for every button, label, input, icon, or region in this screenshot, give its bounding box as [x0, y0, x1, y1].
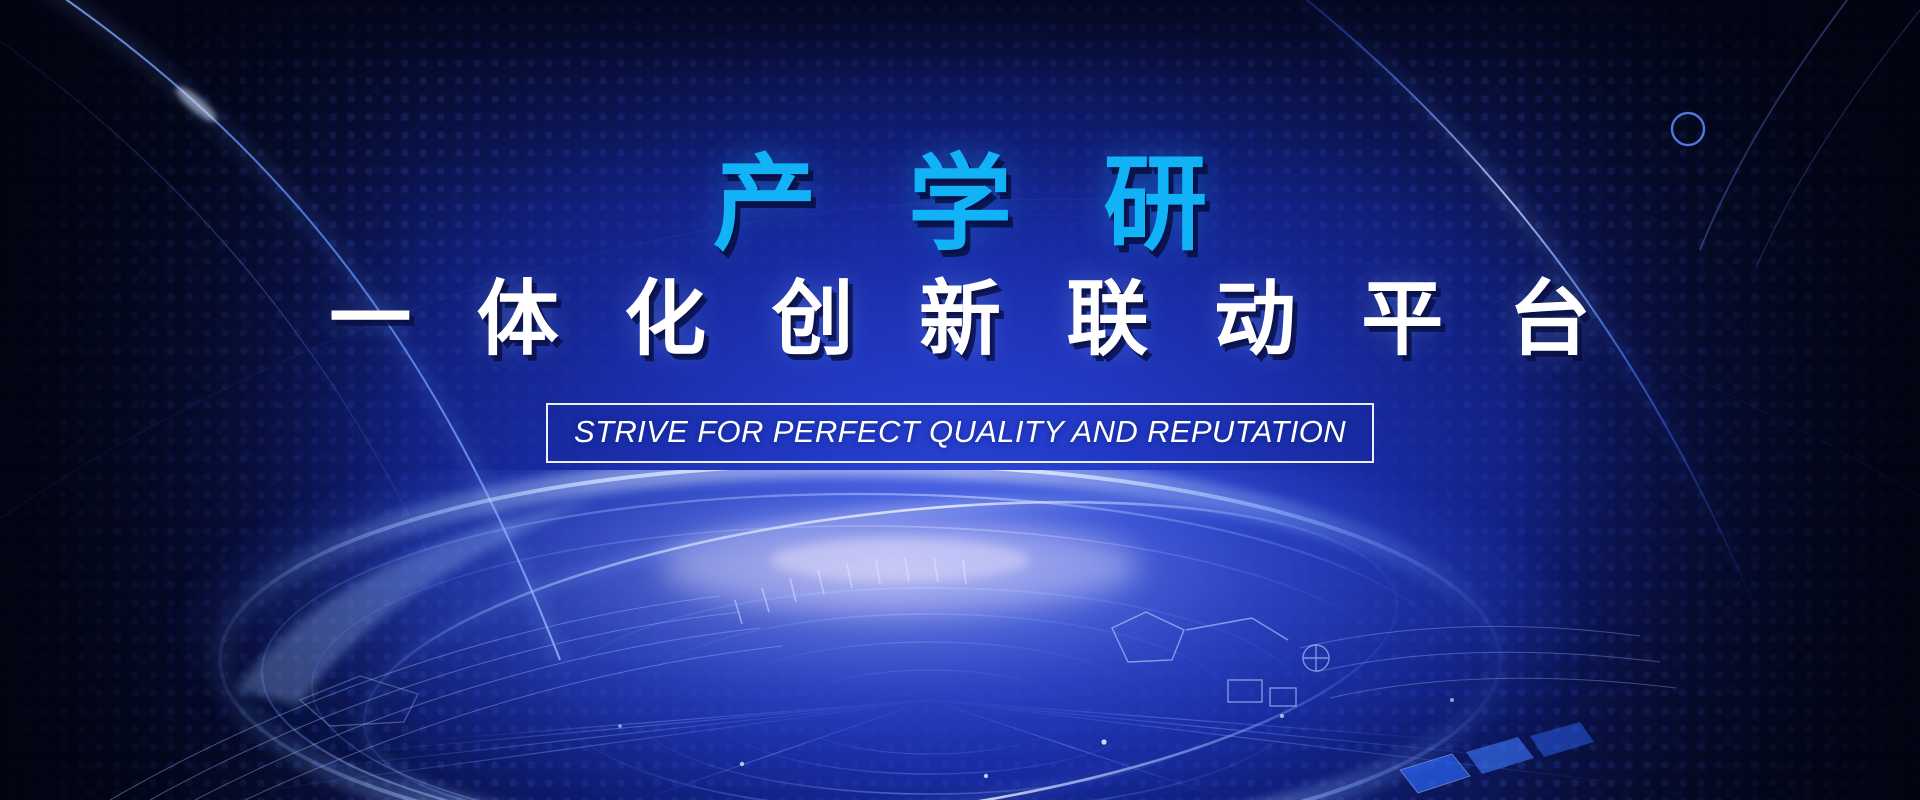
slogan-box: STRIVE FOR PERFECT QUALITY AND REPUTATIO…	[546, 403, 1374, 463]
slogan-text: STRIVE FOR PERFECT QUALITY AND REPUTATIO…	[574, 414, 1346, 450]
banner-text-block: 产 学 研 一 体 化 创 新 联 动 平 台 STRIVE FOR PERFE…	[0, 0, 1920, 800]
hero-banner: 产 学 研 一 体 化 创 新 联 动 平 台 STRIVE FOR PERFE…	[0, 0, 1920, 800]
headline-primary: 产 学 研	[682, 150, 1239, 260]
headline-secondary: 一 体 化 创 新 联 动 平 台	[308, 276, 1612, 365]
